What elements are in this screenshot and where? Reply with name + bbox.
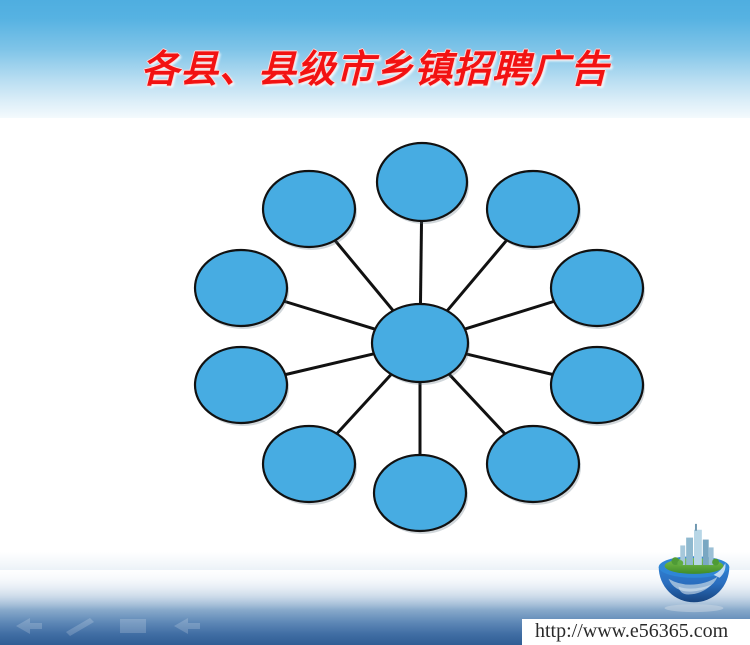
diagram-edge-hub-n8 [285,354,374,375]
diagram-edge-hub-n5 [449,374,505,434]
diagram-edge-hub-n3 [465,301,554,329]
node-ellipse[interactable] [374,455,466,531]
node-ellipse[interactable] [551,250,643,326]
diagram-node-n6[interactable] [374,455,468,534]
diagram-edge-hub-n4 [466,354,553,375]
node-ellipse[interactable] [551,347,643,423]
diagram-node-n2[interactable] [487,171,581,250]
node-ellipse[interactable] [195,347,287,423]
node-ellipse[interactable] [195,250,287,326]
diagram-center-node[interactable] [372,304,470,385]
diagram-node-n3[interactable] [551,250,645,329]
diagram-node-layer [195,143,645,534]
diagram-node-n9[interactable] [195,250,289,329]
node-ellipse[interactable] [377,143,467,221]
diagram-edge-hub-n1 [420,221,421,304]
diagram-edge-hub-n7 [337,374,392,433]
globe-city-logo [645,518,743,616]
diagram-node-n10[interactable] [263,171,357,250]
node-ellipse[interactable] [487,426,579,502]
diagram-edge-hub-n2 [447,240,507,311]
diagram-edge-hub-n9 [284,301,375,329]
radial-hub-and-spoke-diagram [0,0,750,645]
node-ellipse[interactable] [487,171,579,247]
diagram-node-n1[interactable] [377,143,469,224]
diagram-node-n7[interactable] [263,426,357,505]
node-ellipse[interactable] [263,171,355,247]
node-ellipse[interactable] [263,426,355,502]
slide-canvas: 各县、县级市乡镇招聘广告 [0,0,750,645]
diagram-edge-hub-n10 [335,240,393,310]
node-ellipse[interactable] [372,304,468,382]
site-url[interactable]: http://www.e56365.com [535,620,728,643]
diagram-node-n5[interactable] [487,426,581,505]
diagram-node-n4[interactable] [551,347,645,426]
diagram-node-n8[interactable] [195,347,289,426]
